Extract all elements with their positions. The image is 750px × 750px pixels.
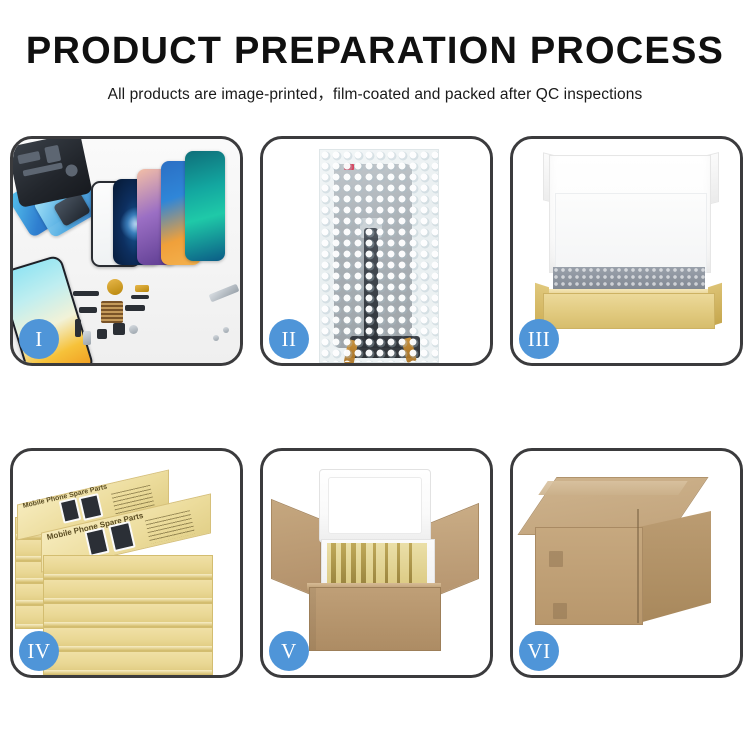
- carton-handle-cut-top: [549, 551, 563, 567]
- part-screw-3: [223, 327, 229, 333]
- gold-box-front-1: [43, 555, 213, 579]
- carton-handle-cut-bottom: [553, 603, 567, 619]
- carton-edge-seam: [637, 509, 639, 623]
- header: PRODUCT PREPARATION PROCESS All products…: [0, 32, 750, 104]
- part-screw-1: [129, 325, 138, 334]
- step-panel-3: III: [510, 136, 743, 366]
- gold-box-front-5: [43, 651, 213, 675]
- carton-front-face: [535, 527, 643, 625]
- steps-grid: I II: [10, 136, 743, 678]
- part-connector-grid: [101, 301, 123, 323]
- part-button-flex: [131, 295, 149, 299]
- step-badge-2: II: [269, 319, 309, 359]
- gold-box-front-3: [43, 603, 213, 627]
- step-badge-6: VI: [519, 631, 559, 671]
- gold-box-front-4: [43, 627, 213, 651]
- phone-display-teal: [185, 151, 225, 261]
- styrofoam-lid: [319, 469, 431, 543]
- part-flex-cable-3: [125, 305, 145, 311]
- bubble-texture: [320, 150, 438, 362]
- page-subtitle: All products are image-printed，film-coat…: [0, 82, 750, 104]
- bubble-wrap-bag: [319, 149, 439, 363]
- step-badge-5: V: [269, 631, 309, 671]
- cardboard-carton-body: [309, 587, 441, 651]
- gold-box-front-2: [43, 579, 213, 603]
- part-flex-cable-2: [75, 319, 81, 337]
- part-speaker-ring: [107, 279, 123, 295]
- step-image-4: Mobile Phone Spare Parts Mobile Phone Sp…: [13, 451, 240, 675]
- step-panel-4: Mobile Phone Spare Parts Mobile Phone Sp…: [10, 448, 243, 678]
- step-panel-6: VI: [510, 448, 743, 678]
- step-image-1: I: [13, 139, 240, 363]
- white-foam-sheet: [555, 193, 707, 273]
- step-image-2: II: [263, 139, 490, 363]
- step-image-6: VI: [513, 451, 740, 675]
- part-vibrator: [97, 329, 107, 339]
- part-flex-cable-1: [79, 307, 97, 313]
- step-badge-3: III: [519, 319, 559, 359]
- step-panel-2: II: [260, 136, 493, 366]
- page-title: PRODUCT PREPARATION PROCESS: [0, 32, 750, 72]
- part-screw-2: [213, 335, 219, 341]
- step-panel-5: V: [260, 448, 493, 678]
- step-panel-1: I: [10, 136, 243, 366]
- step-badge-4: IV: [19, 631, 59, 671]
- packed-gold-boxes: [327, 543, 427, 583]
- product-preparation-infographic: PRODUCT PREPARATION PROCESS All products…: [0, 0, 750, 750]
- part-antenna-strip: [73, 291, 99, 296]
- packing-tape: [538, 481, 687, 495]
- part-gold-connector: [135, 285, 149, 292]
- step-badge-1: I: [19, 319, 59, 359]
- gold-box-front: [543, 293, 715, 329]
- part-sim-tray: [83, 331, 91, 345]
- step-image-5: V: [263, 451, 490, 675]
- part-camera-module: [113, 323, 125, 335]
- step-image-3: III: [513, 139, 740, 363]
